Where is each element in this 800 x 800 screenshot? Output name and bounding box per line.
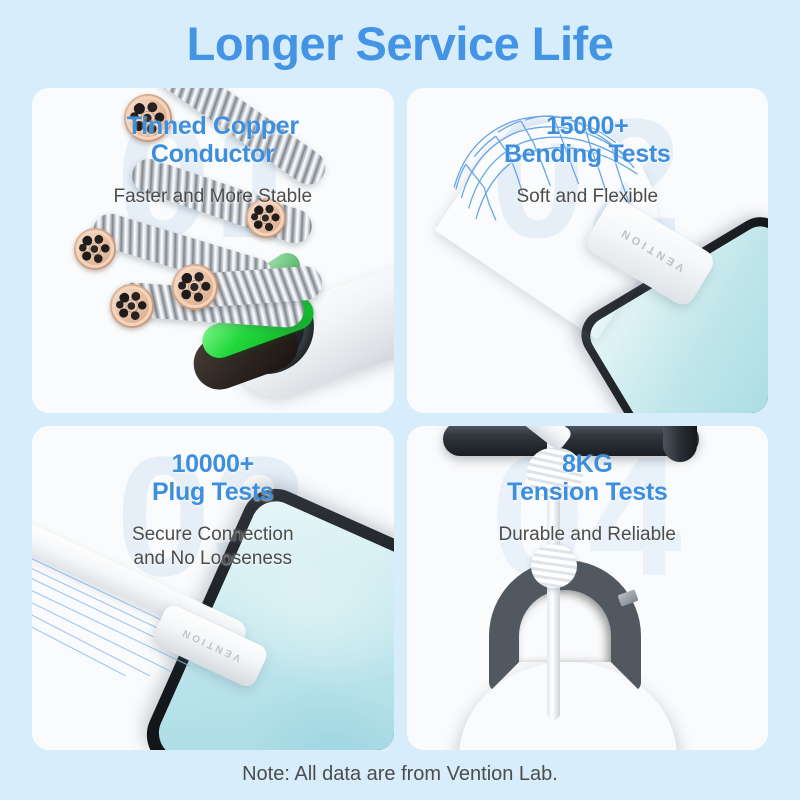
copper-strand-face-icon — [172, 264, 218, 310]
feature-card-grid: 01 Tinned Copper Conductor Faster a — [32, 88, 768, 750]
card-headline: 15000+ Bending Tests — [407, 112, 769, 168]
card-headline: 10000+ Plug Tests — [32, 450, 394, 506]
card-headline-line1: 10000+ — [32, 450, 394, 478]
copper-strand-face-icon — [74, 228, 116, 270]
page-title: Longer Service Life — [0, 18, 800, 70]
feature-card-plug-tests[interactable]: 03 VENTION 10000+ Plug Tests — [32, 426, 394, 751]
footer-note: Note: All data are from Vention Lab. — [0, 763, 800, 786]
card-subtitle: Durable and Reliable — [407, 523, 769, 547]
card-subtitle-line2: and No Looseness — [32, 547, 394, 571]
card-headline: Tinned Copper Conductor — [32, 112, 394, 168]
card-text-block: Tinned Copper Conductor Faster and More … — [32, 88, 394, 209]
feature-card-bending-tests[interactable]: 02 — [407, 88, 769, 413]
card-text-block: 15000+ Bending Tests Soft and Flexible — [407, 88, 769, 209]
card-headline-line2: Plug Tests — [32, 478, 394, 506]
copper-strand-face-icon — [110, 284, 154, 328]
card-subtitle: Faster and More Stable — [32, 185, 394, 209]
card-text-block: 8KG Tension Tests Durable and Reliable — [407, 426, 769, 547]
card-subtitle: Secure Connection and No Looseness — [32, 523, 394, 572]
card-headline-line2: Bending Tests — [407, 140, 769, 168]
feature-card-tension-tests[interactable]: 04 8KG Tension Tests Durable and Reliabl… — [407, 426, 769, 751]
card-headline: 8KG Tension Tests — [407, 450, 769, 506]
card-headline-line1: Tinned Copper — [32, 112, 394, 140]
card-headline-line2: Tension Tests — [407, 478, 769, 506]
card-headline-line2: Conductor — [32, 140, 394, 168]
card-subtitle: Soft and Flexible — [407, 185, 769, 209]
card-subtitle-line1: Secure Connection — [32, 523, 394, 547]
card-headline-line1: 15000+ — [407, 112, 769, 140]
card-text-block: 10000+ Plug Tests Secure Connection and … — [32, 426, 394, 572]
feature-card-tinned-copper-conductor[interactable]: 01 Tinned Copper Conductor Faster a — [32, 88, 394, 413]
card-headline-line1: 8KG — [407, 450, 769, 478]
cable-knot-shape — [531, 544, 577, 588]
